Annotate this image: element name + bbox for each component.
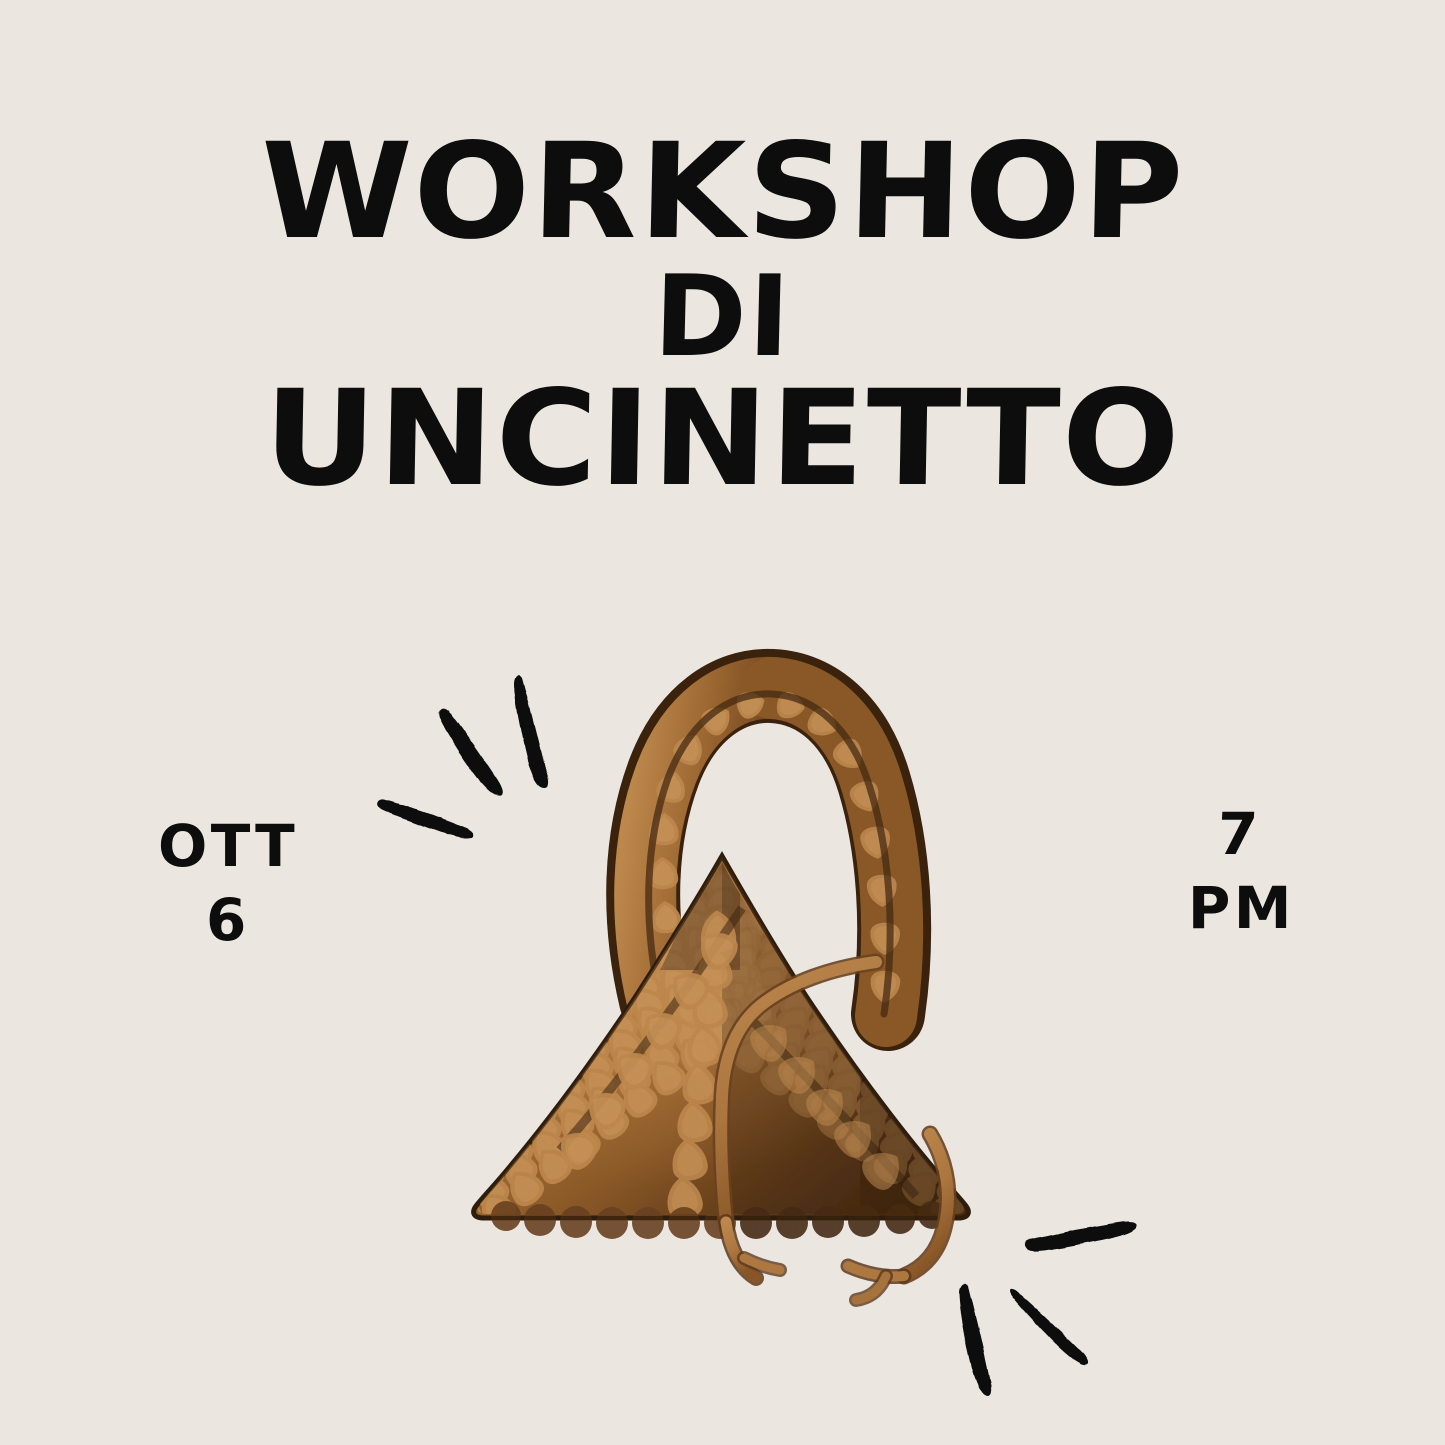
- event-period-label: PM: [1188, 874, 1295, 942]
- title-line-1: WORKSHOP: [0, 128, 1445, 257]
- poster-canvas: WORKSHOP DI UNCINETTO OTT 6 7 PM: [0, 0, 1445, 1445]
- title-line-3: UNCINETTO: [0, 375, 1445, 504]
- event-date: OTT 6: [158, 812, 298, 955]
- event-hour-number: 7: [1186, 800, 1263, 868]
- sparkle-group-bottom-right: [959, 1221, 1137, 1395]
- title-line-2: DI: [0, 263, 1445, 373]
- event-day-number: 6: [206, 886, 298, 954]
- event-time: 7 PM: [1188, 800, 1295, 943]
- event-month-label: OTT: [158, 812, 298, 880]
- sparkle-group-top-left: [378, 675, 548, 838]
- page-title: WORKSHOP DI UNCINETTO: [0, 128, 1445, 504]
